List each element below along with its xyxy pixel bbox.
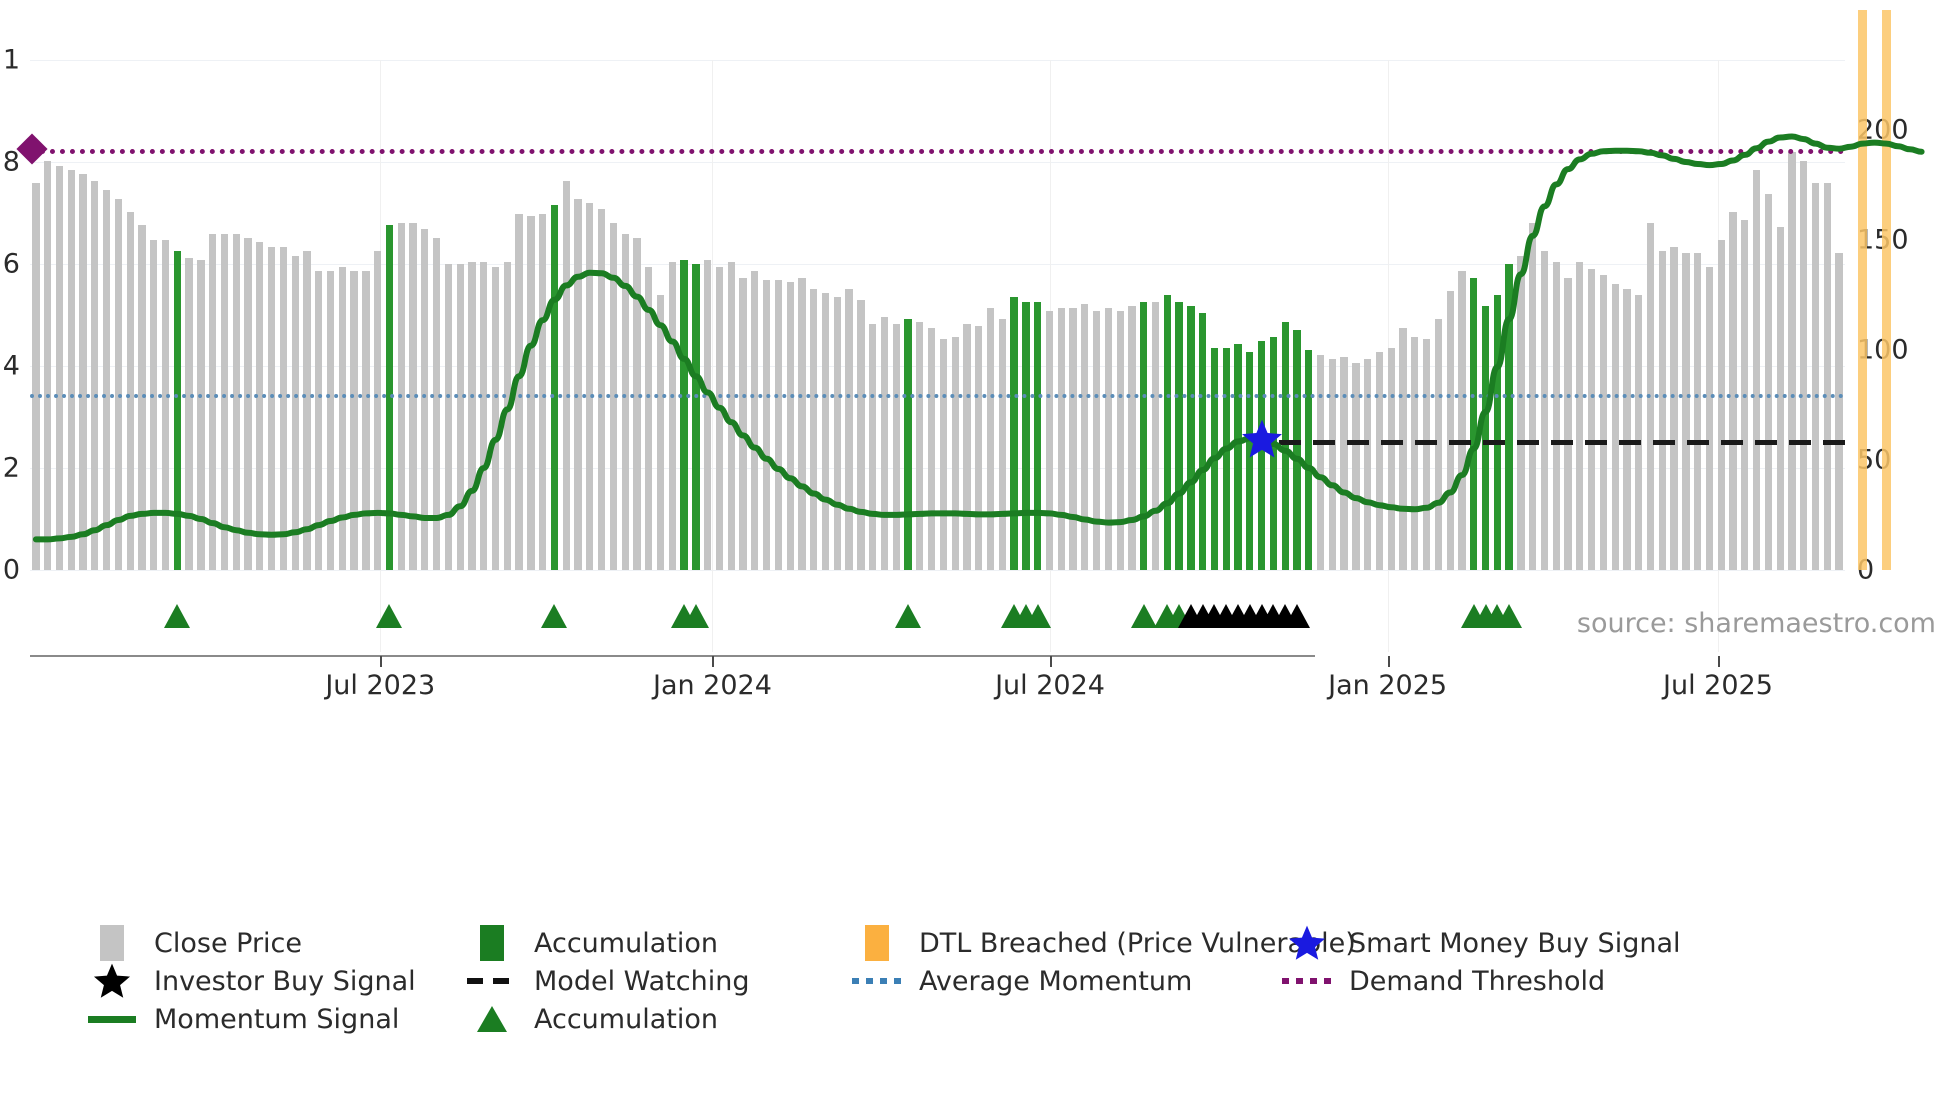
dtl-breached-band — [1858, 10, 1867, 570]
legend-label: Investor Buy Signal — [154, 966, 416, 997]
legend-item-dtl-breached[interactable]: DTL Breached (Price Vulnerable) — [849, 924, 1279, 962]
legend-item-model-watching[interactable]: Model Watching — [464, 962, 849, 1000]
x-axis-tick — [1050, 656, 1052, 667]
x-axis-tick-label: Jul 2023 — [325, 670, 435, 701]
grey-square-icon — [84, 925, 140, 961]
chart-legend: Close Price Accumulation DTL Breached (P… — [84, 924, 1934, 1038]
accumulation-triangle-marker — [1131, 604, 1157, 628]
legend-item-close-price[interactable]: Close Price — [84, 924, 464, 962]
y-axis-left-label: 1 — [3, 47, 20, 74]
x-axis-tick-label: Jul 2025 — [1663, 670, 1773, 701]
investor-buy-triangle-marker — [1284, 604, 1310, 628]
legend-item-accumulation-bar[interactable]: Accumulation — [464, 924, 849, 962]
legend-item-smart-money-buy[interactable]: Smart Money Buy Signal — [1279, 924, 1681, 962]
accumulation-triangle-marker — [1025, 604, 1051, 628]
x-axis-tick-label: Jan 2025 — [1328, 670, 1447, 701]
orange-square-icon — [849, 925, 905, 961]
legend-item-accumulation-marker[interactable]: Accumulation — [464, 1000, 849, 1038]
accumulation-triangle-marker — [683, 604, 709, 628]
accumulation-marker-row — [30, 592, 1845, 628]
x-axis-tick — [712, 656, 714, 667]
legend-label: Demand Threshold — [1349, 966, 1605, 997]
legend-label: Accumulation — [534, 1004, 718, 1035]
x-axis-tick-label: Jan 2024 — [653, 670, 772, 701]
accumulation-triangle-marker — [895, 604, 921, 628]
accumulation-triangle-marker — [376, 604, 402, 628]
legend-label: Smart Money Buy Signal — [1349, 928, 1681, 959]
legend-item-demand-threshold[interactable]: Demand Threshold — [1279, 962, 1605, 1000]
y-axis-left-label: 0.6 — [0, 251, 20, 278]
smart-money-buy-marker — [1240, 418, 1284, 464]
legend-label: Accumulation — [534, 928, 718, 959]
y-axis-left-label: 0.4 — [0, 353, 20, 380]
x-axis-tick — [1388, 656, 1390, 667]
accumulation-triangle-marker — [164, 604, 190, 628]
x-axis-tick-label: Jul 2024 — [995, 670, 1105, 701]
black-dashed-line-icon — [464, 978, 520, 984]
x-axis-tick — [1718, 656, 1720, 667]
chart-root: 00.20.40.60.81050100150200 Jul 2023Jan 2… — [0, 0, 1960, 1102]
legend-label: Momentum Signal — [154, 1004, 399, 1035]
y-axis-left-label: 0 — [3, 557, 20, 584]
x-axis-line — [30, 655, 1315, 657]
source-note: source: sharemaestro.com — [1577, 608, 1936, 639]
legend-row: Momentum Signal Accumulation — [84, 1000, 1934, 1038]
green-triangle-icon — [464, 1006, 520, 1032]
legend-item-investor-buy[interactable]: Investor Buy Signal — [84, 962, 464, 1000]
blue-dotted-line-icon — [849, 978, 905, 984]
legend-row: Close Price Accumulation DTL Breached (P… — [84, 924, 1934, 962]
purple-dotted-line-icon — [1279, 978, 1335, 984]
legend-item-average-momentum[interactable]: Average Momentum — [849, 962, 1279, 1000]
x-axis-tick — [380, 656, 382, 667]
legend-label: Model Watching — [534, 966, 749, 997]
accumulation-triangle-marker — [541, 604, 567, 628]
gridline — [30, 570, 1845, 571]
blue-star-icon — [1279, 924, 1335, 962]
accumulation-triangle-marker — [1496, 604, 1522, 628]
dtl-breached-band — [1882, 10, 1891, 570]
y-axis-left-label: 0.8 — [0, 149, 20, 176]
legend-row: Investor Buy Signal Model Watching Avera… — [84, 962, 1934, 1000]
legend-item-momentum-signal[interactable]: Momentum Signal — [84, 1000, 464, 1038]
green-square-icon — [464, 925, 520, 961]
plot-area: 00.20.40.60.81050100150200 — [30, 60, 1845, 570]
legend-label: Close Price — [154, 928, 302, 959]
y-axis-left-label: 0.2 — [0, 455, 20, 482]
momentum-signal-line — [30, 60, 1845, 570]
black-star-icon — [84, 962, 140, 1000]
legend-label: Average Momentum — [919, 966, 1192, 997]
green-solid-line-icon — [84, 1016, 140, 1023]
